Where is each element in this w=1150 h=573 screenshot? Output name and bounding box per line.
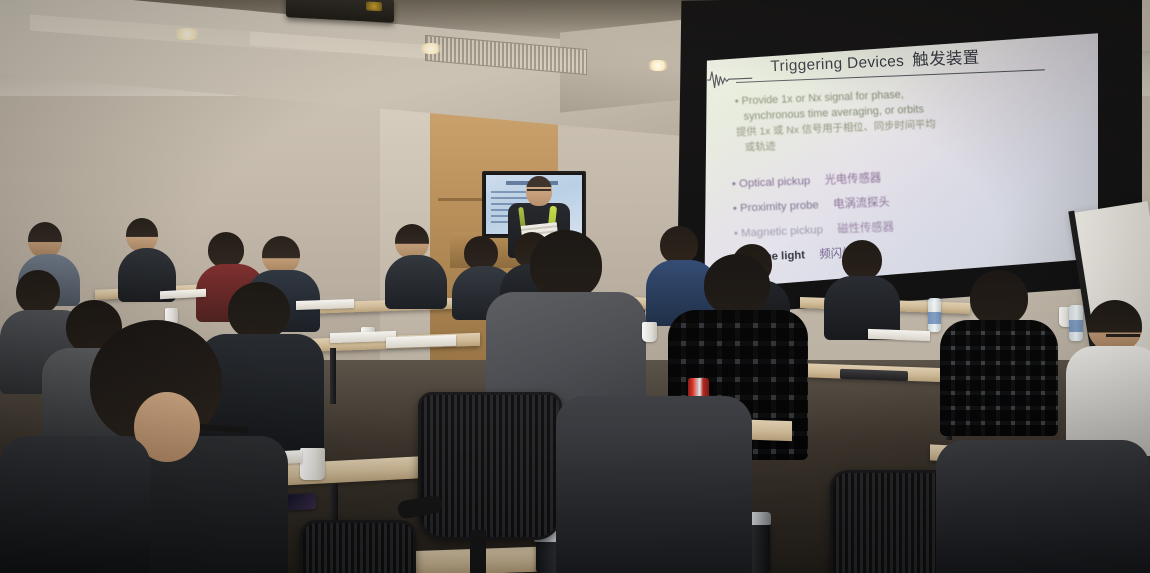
slide-bullet-4: • Magnetic pickup磁性传感器 xyxy=(734,218,895,241)
eyeglasses-icon xyxy=(527,189,551,196)
desk-leg xyxy=(330,348,336,404)
attendee-foreground xyxy=(556,396,752,573)
attendee xyxy=(118,218,176,300)
attendee-foreground xyxy=(936,440,1150,573)
slide-bullet-3: • Proximity probe电涡流探头 xyxy=(733,193,890,216)
slide-bullet-1: • Provide 1x or Nx signal for phase, syn… xyxy=(734,80,1076,156)
attendee-foreground xyxy=(0,436,150,573)
attendee xyxy=(385,224,447,306)
attendee xyxy=(824,240,900,336)
handout-stack xyxy=(868,329,930,341)
recessed-downlight-icon xyxy=(418,43,444,54)
attendee xyxy=(940,270,1058,430)
waveform-icon xyxy=(707,67,753,91)
paper-cup xyxy=(642,322,657,342)
attendee-glasses xyxy=(1090,330,1150,380)
recessed-downlight-icon xyxy=(172,28,202,40)
chair-post xyxy=(470,530,486,573)
eyeglasses-icon xyxy=(1106,334,1140,343)
recessed-downlight-icon xyxy=(646,60,670,71)
slide-bullet-2: • Optical pickup光电传感器 xyxy=(732,169,882,192)
office-chair xyxy=(300,520,416,573)
office-chair xyxy=(418,392,562,540)
paper-cup xyxy=(300,448,325,480)
classroom-photo-scene: Triggering Devices触发装置 • Provide 1x or N… xyxy=(0,0,1150,573)
